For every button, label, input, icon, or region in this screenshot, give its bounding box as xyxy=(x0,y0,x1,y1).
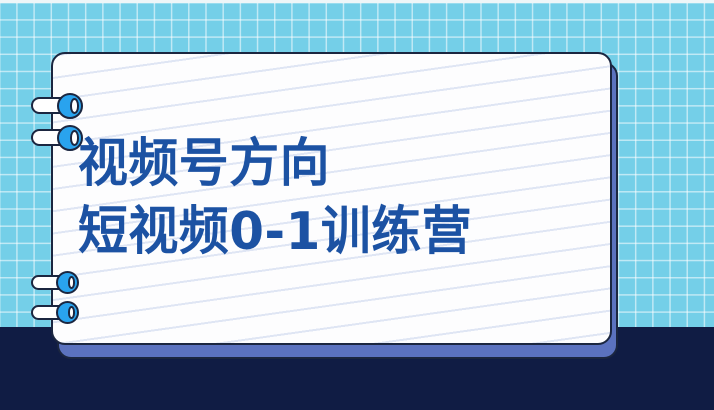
binder-ring-4-disc xyxy=(56,301,79,324)
binder-ring-3-disc xyxy=(56,271,79,294)
poster-canvas: 视频号方向 短视频0-1训练营 xyxy=(0,0,714,410)
binder-ring-2-icon xyxy=(31,125,83,151)
note-card xyxy=(51,52,612,345)
binder-ring-2-disc xyxy=(57,125,83,151)
binder-ring-1-disc xyxy=(57,93,83,119)
binder-ring-4-icon xyxy=(31,301,79,324)
binder-ring-3-icon xyxy=(31,271,79,294)
top-highlight-strip xyxy=(0,0,714,3)
binder-ring-1-icon xyxy=(31,93,83,119)
